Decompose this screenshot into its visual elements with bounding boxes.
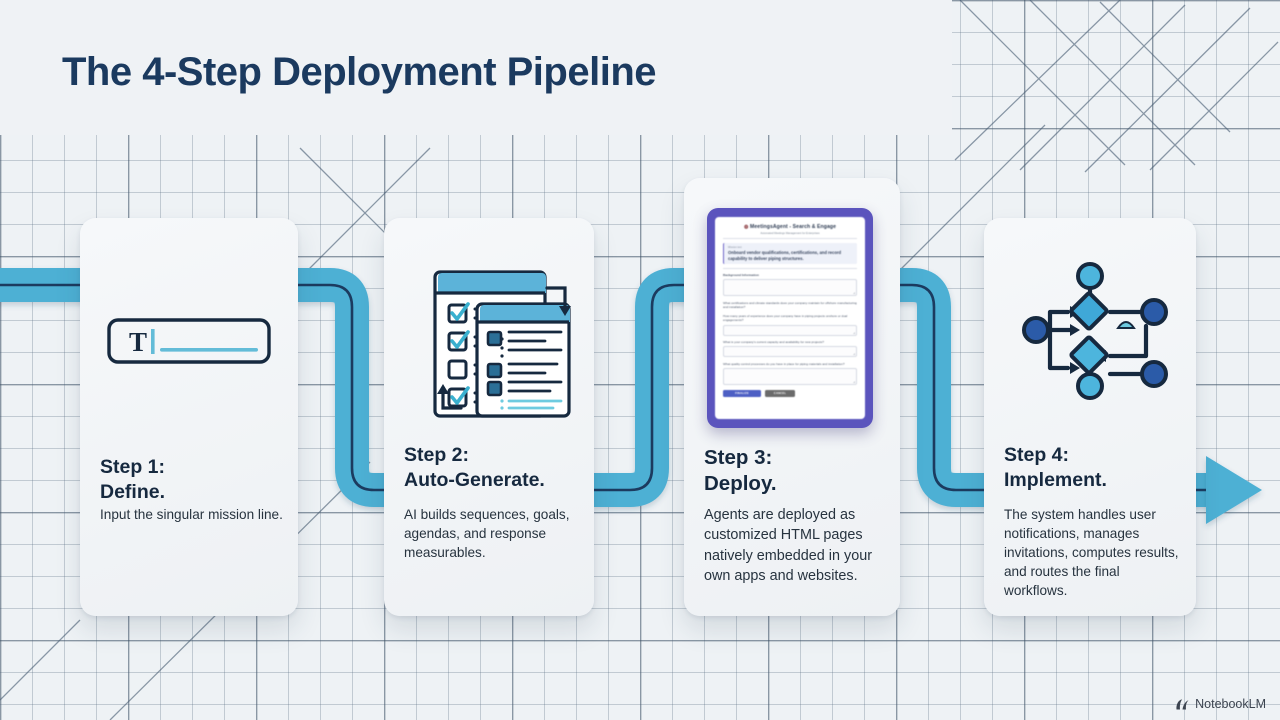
step-heading-2: Step 2: Auto-Generate. bbox=[404, 443, 580, 493]
step-description-4: The system handles user notifications, m… bbox=[1004, 506, 1184, 600]
step-name-3: Deploy. bbox=[704, 471, 886, 497]
mock-quote-text: Onboard vendor qualifications, certifica… bbox=[728, 250, 853, 261]
step-label-4: Step 4: bbox=[1004, 444, 1069, 466]
mock-field-1-label: Background Information bbox=[723, 273, 857, 277]
mock-field-1-input[interactable] bbox=[723, 279, 857, 296]
step-label-2: Step 2: bbox=[404, 444, 469, 466]
notebooklm-logo-icon bbox=[1175, 698, 1190, 711]
step-label-1: Step 1: bbox=[100, 456, 165, 478]
mock-button-row: FINALIZE CANCEL bbox=[723, 390, 857, 397]
pipeline-end-arrow bbox=[1206, 456, 1262, 524]
mock-finalize-button[interactable]: FINALIZE bbox=[723, 390, 761, 397]
svg-text:T: T bbox=[129, 327, 147, 357]
divider bbox=[723, 238, 857, 239]
mock-quote-label: Mission text bbox=[728, 246, 853, 249]
workflow-nodes-icon bbox=[984, 260, 1196, 410]
step-name-1: Define. bbox=[100, 480, 284, 505]
page-title: The 4-Step Deployment Pipeline bbox=[62, 50, 656, 95]
divider bbox=[723, 268, 857, 269]
mock-field-2-label: What certifications and climate standard… bbox=[723, 301, 857, 310]
notebooklm-watermark: NotebookLM bbox=[1175, 697, 1266, 711]
watermark-label: NotebookLM bbox=[1195, 697, 1266, 711]
mock-field-4-input[interactable] bbox=[723, 346, 857, 357]
mock-field-3-input[interactable] bbox=[723, 325, 857, 336]
checklist-documents-icon bbox=[384, 260, 594, 420]
step-name-2: Auto-Generate. bbox=[404, 468, 580, 493]
step-description-2: AI builds sequences, goals, agendas, and… bbox=[404, 506, 582, 563]
mock-field-4-label: What is your company's current capacity … bbox=[723, 340, 857, 344]
mock-field-5-label: What quality control processes do you ha… bbox=[723, 362, 857, 366]
mock-field-5-input[interactable] bbox=[723, 368, 857, 385]
mock-mission-block: Mission text Onboard vendor qualificatio… bbox=[723, 243, 857, 264]
step-description-3: Agents are deployed as customized HTML p… bbox=[704, 505, 888, 586]
mock-app-subtitle: Automated Meetings Management for Enterp… bbox=[723, 232, 857, 235]
mock-app-page: ◍ MeetingsAgent - Search & Engage Automa… bbox=[715, 217, 865, 419]
deployed-app-screenshot[interactable]: ◍ MeetingsAgent - Search & Engage Automa… bbox=[707, 208, 873, 428]
step-name-4: Implement. bbox=[1004, 468, 1182, 493]
step-card-4[interactable]: Step 4: Implement. The system handles us… bbox=[984, 218, 1196, 616]
mock-app-title: ◍ MeetingsAgent - Search & Engage bbox=[723, 224, 857, 230]
step-description-1: Input the singular mission line. bbox=[100, 506, 286, 525]
step-heading-1: Step 1: Define. bbox=[100, 455, 284, 505]
step-heading-3: Step 3: Deploy. bbox=[704, 445, 886, 497]
step-card-2[interactable]: Step 2: Auto-Generate. AI builds sequenc… bbox=[384, 218, 594, 616]
step-label-3: Step 3: bbox=[704, 446, 772, 469]
meeting-agent-logo-icon: ◍ bbox=[744, 224, 749, 230]
mock-cancel-button[interactable]: CANCEL bbox=[765, 390, 795, 397]
text-input-icon: T bbox=[80, 318, 298, 364]
step-card-3[interactable]: ◍ MeetingsAgent - Search & Engage Automa… bbox=[684, 178, 900, 616]
mock-field-3-label: How many years of experience does your c… bbox=[723, 314, 857, 323]
step-heading-4: Step 4: Implement. bbox=[1004, 443, 1182, 493]
step-card-1[interactable]: T Step 1: Define. Input the singular mis… bbox=[80, 218, 298, 616]
